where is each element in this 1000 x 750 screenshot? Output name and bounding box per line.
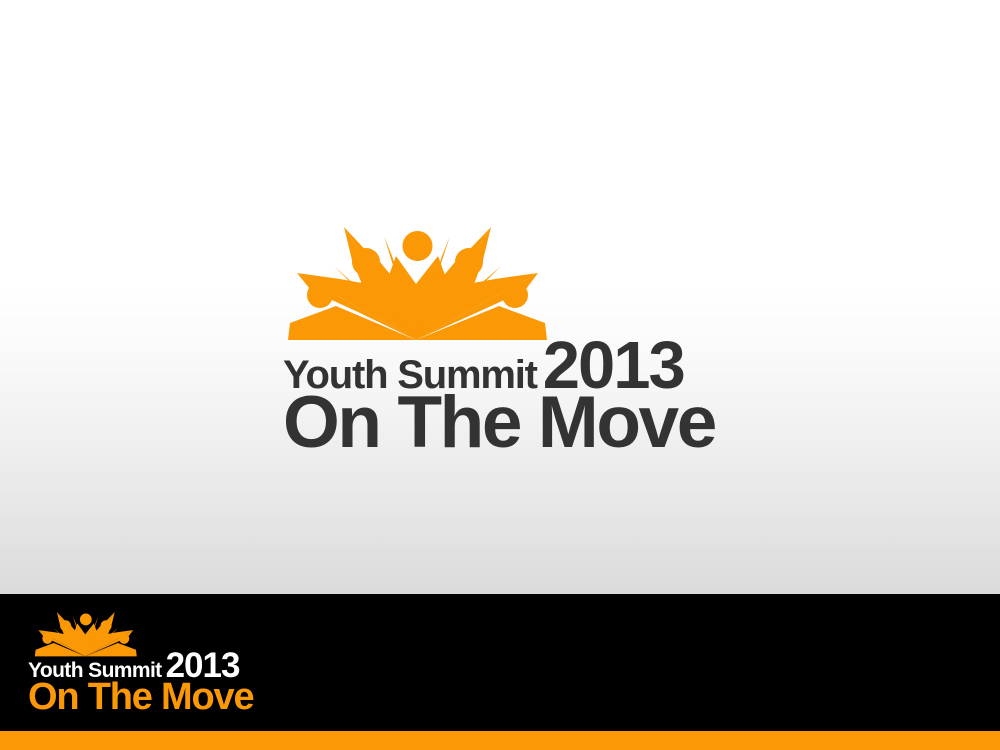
sunburst-people-icon xyxy=(288,222,548,344)
sunburst-people-icon xyxy=(30,610,142,658)
main-logo-lockup: Youth Summit2013 On The Move xyxy=(283,222,713,454)
slide-canvas: Youth Summit2013 On The Move xyxy=(0,0,1000,750)
main-logo-text: Youth Summit2013 On The Move xyxy=(283,340,713,458)
footer-logo-lockup: Youth Summit2013 On The Move xyxy=(28,610,258,720)
footer-logo-text: Youth Summit2013 On The Move xyxy=(28,652,258,716)
main-logo-tagline: On The Move xyxy=(283,382,715,463)
footer-logo-tagline: On The Move xyxy=(28,676,253,718)
bottom-accent-strip xyxy=(0,731,1000,750)
main-logo-line-2: On The Move xyxy=(283,388,713,458)
footer-logo-line-2: On The Move xyxy=(28,678,258,716)
